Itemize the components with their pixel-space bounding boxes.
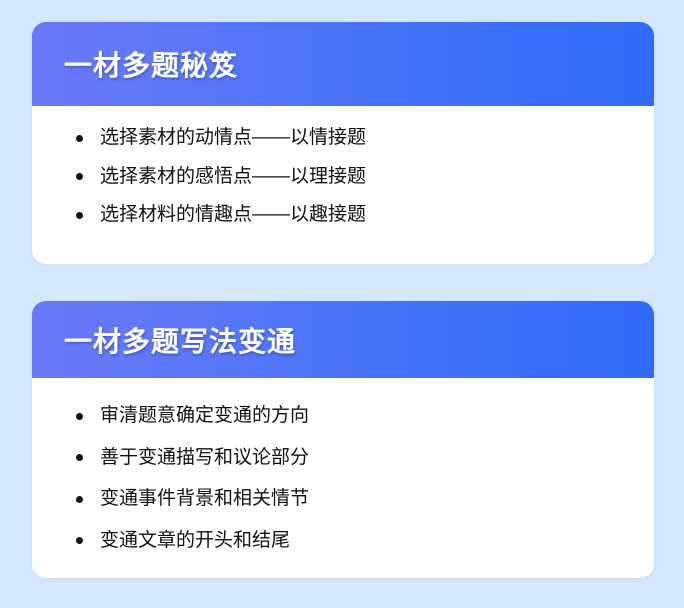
card-secrets: 一材多题秘笈 选择素材的动情点——以情接题 选择素材的感悟点——以理接题 选择材… xyxy=(32,22,654,264)
list-item: 变通文章的开头和结尾 xyxy=(32,530,654,549)
bullet-dot-icon xyxy=(76,496,83,503)
list-item-label: 选择素材的感悟点——以理接题 xyxy=(100,167,366,186)
list-item-label: 变通事件背景和相关情节 xyxy=(100,489,309,508)
list-item-label: 选择材料的情趣点——以趣接题 xyxy=(100,205,366,224)
bullet-list-secrets: 选择素材的动情点——以情接题 选择素材的感悟点——以理接题 选择材料的情趣点——… xyxy=(32,128,654,224)
card-header-secrets: 一材多题秘笈 xyxy=(32,22,654,106)
card-body-secrets: 选择素材的动情点——以情接题 选择素材的感悟点——以理接题 选择材料的情趣点——… xyxy=(32,106,654,264)
list-item: 选择素材的感悟点——以理接题 xyxy=(32,166,654,185)
bullet-list-adaptation: 审清题意确定变通的方向 善于变通描写和议论部分 变通事件背景和相关情节 变通文章… xyxy=(32,406,654,550)
bullet-dot-icon xyxy=(76,413,83,420)
bullet-dot-icon xyxy=(76,212,83,219)
list-item: 审清题意确定变通的方向 xyxy=(32,406,654,425)
card-title-adaptation: 一材多题写法变通 xyxy=(64,320,296,360)
list-item-label: 选择素材的动情点——以情接题 xyxy=(100,128,366,147)
card-title-secrets: 一材多题秘笈 xyxy=(64,44,238,84)
slide-page: 一材多题秘笈 选择素材的动情点——以情接题 选择素材的感悟点——以理接题 选择材… xyxy=(0,0,684,608)
list-item: 变通事件背景和相关情节 xyxy=(32,489,654,508)
bullet-dot-icon xyxy=(76,135,83,142)
bullet-dot-icon xyxy=(76,173,83,180)
list-item: 善于变通描写和议论部分 xyxy=(32,447,654,466)
list-item-label: 变通文章的开头和结尾 xyxy=(100,531,290,550)
card-adaptation: 一材多题写法变通 审清题意确定变通的方向 善于变通描写和议论部分 变通事件背景和… xyxy=(32,301,654,578)
card-header-adaptation: 一材多题写法变通 xyxy=(32,301,654,378)
bullet-dot-icon xyxy=(76,454,83,461)
list-item: 选择素材的动情点——以情接题 xyxy=(32,128,654,147)
list-item-label: 审清题意确定变通的方向 xyxy=(100,406,309,425)
list-item: 选择材料的情趣点——以趣接题 xyxy=(32,205,654,224)
list-item-label: 善于变通描写和议论部分 xyxy=(100,448,309,467)
bullet-dot-icon xyxy=(76,537,83,544)
card-body-adaptation: 审清题意确定变通的方向 善于变通描写和议论部分 变通事件背景和相关情节 变通文章… xyxy=(32,378,654,578)
